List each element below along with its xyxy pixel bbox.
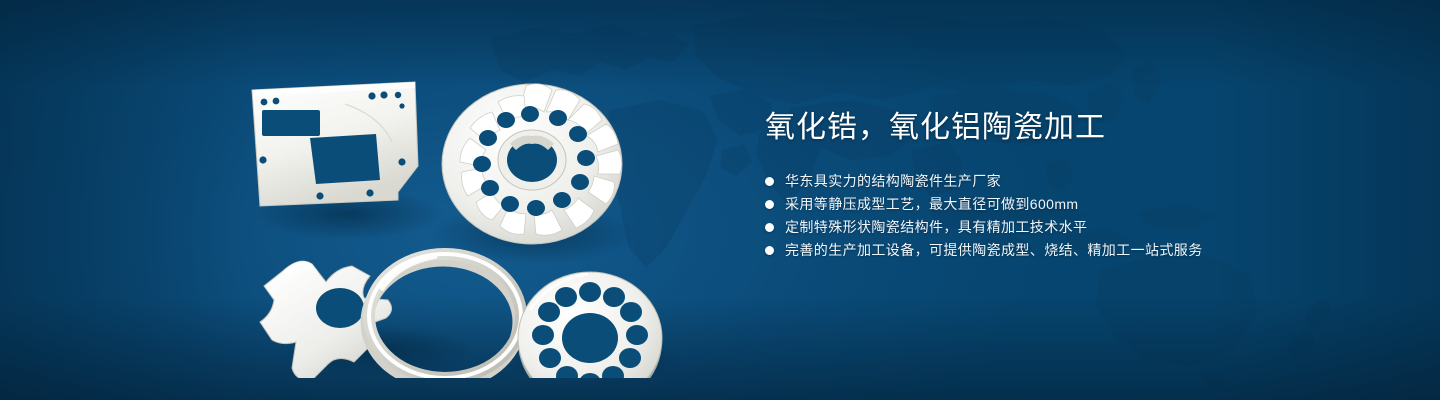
list-item: 定制特殊形状陶瓷结构件，具有精加工技术水平 [765,216,1385,239]
list-item-label: 华东具实力的结构陶瓷件生产厂家 [785,170,1001,193]
ceramic-plate [252,82,418,206]
ceramic-impeller [442,84,622,244]
bullet-dot-icon [765,223,774,232]
feature-list: 华东具实力的结构陶瓷件生产厂家 采用等静压成型工艺，最大直径可做到600mm 定… [765,170,1385,262]
list-item: 采用等静压成型工艺，最大直径可做到600mm [765,193,1385,216]
bullet-dot-icon [765,246,774,255]
list-item-label: 采用等静压成型工艺，最大直径可做到600mm [785,193,1078,216]
list-item-label: 定制特殊形状陶瓷结构件，具有精加工技术水平 [785,216,1087,239]
bullet-dot-icon [765,177,774,186]
promo-banner: 氧化锆，氧化铝陶瓷加工 华东具实力的结构陶瓷件生产厂家 采用等静压成型工艺，最大… [0,0,1440,400]
list-item: 完善的生产加工设备，可提供陶瓷成型、烧结、精加工一站式服务 [765,239,1385,262]
list-item: 华东具实力的结构陶瓷件生产厂家 [765,170,1385,193]
copy-block: 氧化锆，氧化铝陶瓷加工 华东具实力的结构陶瓷件生产厂家 采用等静压成型工艺，最大… [765,108,1385,262]
product-photo-group [230,38,700,378]
headline: 氧化锆，氧化铝陶瓷加工 [765,108,1385,148]
ceramic-perforated-disc [518,272,662,378]
list-item-label: 完善的生产加工设备，可提供陶瓷成型、烧结、精加工一站式服务 [785,239,1203,262]
bullet-dot-icon [765,200,774,209]
